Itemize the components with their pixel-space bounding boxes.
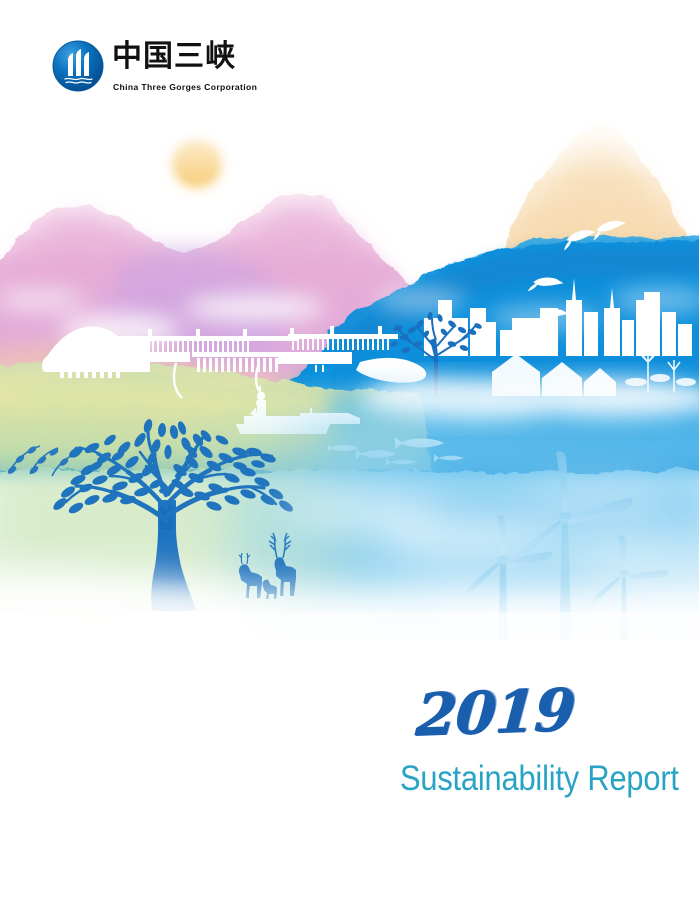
sea-water bbox=[330, 389, 699, 470]
clouds-upper bbox=[0, 286, 699, 346]
city-skyline bbox=[424, 278, 692, 356]
cloud-bank-lower bbox=[0, 572, 699, 654]
mist-mid bbox=[360, 376, 699, 422]
peach-band bbox=[0, 342, 450, 405]
deer-family bbox=[239, 533, 296, 599]
blue-mountains-soft bbox=[0, 250, 699, 470]
lamp-canopies bbox=[625, 374, 696, 386]
wind-turbine-center bbox=[511, 451, 633, 660]
ship-figures bbox=[250, 386, 266, 417]
houses bbox=[492, 354, 616, 396]
cream-mountain-soft bbox=[470, 134, 699, 380]
pink-mountains bbox=[0, 192, 480, 410]
report-title: Sustainability Report bbox=[400, 760, 638, 798]
logo-english-name: China Three Gorges Corporation bbox=[113, 82, 257, 92]
three-gorges-dam bbox=[42, 326, 426, 398]
flying-birds bbox=[528, 220, 628, 320]
wind-turbine-right bbox=[591, 535, 668, 658]
lower-cyan-wash bbox=[230, 449, 420, 600]
logo-chinese-name: 中国三峡 bbox=[112, 40, 236, 74]
tree-leaves bbox=[51, 418, 295, 515]
skyline-tree bbox=[389, 312, 482, 398]
reservoir-water bbox=[0, 361, 430, 470]
blue-ridge-dark bbox=[340, 242, 699, 362]
wind-turbines bbox=[465, 451, 668, 660]
report-cover: 中国三峡 China Three Gorges Corporation 2019… bbox=[0, 0, 699, 911]
fish-school bbox=[328, 437, 464, 466]
lavender-mountain bbox=[104, 246, 288, 362]
three-gorges-dam-emblem bbox=[52, 40, 104, 92]
cloud-wisps-mid bbox=[280, 486, 699, 572]
deep-blue-mass bbox=[330, 236, 699, 440]
deer-doe bbox=[239, 553, 262, 598]
blue-mountains bbox=[0, 232, 699, 470]
lower-blue-wash bbox=[300, 426, 699, 600]
big-tree bbox=[51, 418, 295, 611]
lower-left-wash bbox=[0, 435, 340, 600]
cream-mountain bbox=[455, 120, 699, 400]
shrub-left bbox=[6, 445, 81, 476]
cover-title-block: 2019 Sustainability Report bbox=[400, 686, 670, 798]
company-logo: 中国三峡 China Three Gorges Corporation bbox=[52, 38, 292, 102]
street-lamps bbox=[640, 350, 680, 392]
deer-stag bbox=[269, 533, 296, 596]
report-year: 2019 bbox=[414, 677, 675, 744]
wind-turbine-left bbox=[465, 515, 552, 660]
deer-fawn bbox=[263, 580, 277, 599]
sun bbox=[166, 133, 228, 195]
reservoir-water-soft bbox=[0, 373, 420, 462]
pink-mountains-soft bbox=[0, 206, 440, 410]
ship bbox=[236, 386, 360, 434]
